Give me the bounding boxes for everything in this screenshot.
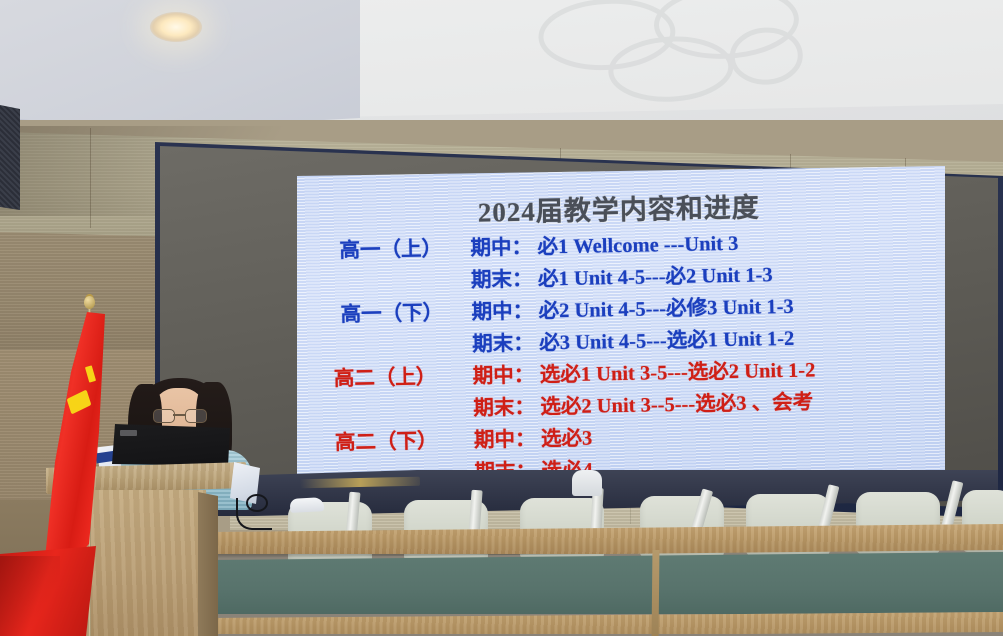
- glasses-icon: [153, 409, 205, 421]
- wall-speaker-grille: [0, 105, 20, 210]
- olympic-rings-icon: [527, 0, 933, 122]
- laptop: [112, 424, 230, 466]
- laptop-logo: [120, 430, 137, 436]
- desk-seam: [652, 550, 660, 636]
- slide-content: 2024届教学内容和进度 高一（上） 期中： 必1 Wellcome ---Un…: [297, 166, 945, 496]
- slide-row-grade: 高二（下）: [335, 423, 438, 455]
- cable-coil: [246, 494, 268, 512]
- conference-desk: [212, 524, 1003, 636]
- slide-row-term: 期末：: [473, 390, 535, 421]
- presentation-room-photo: 2024届教学内容和进度 高一（上） 期中： 必1 Wellcome ---Un…: [0, 0, 1003, 636]
- flag-shadow: [0, 556, 60, 636]
- desk-front-panel: [212, 552, 1003, 614]
- slide-row-grade: 高二（上）: [334, 359, 437, 391]
- glasses-lens-left: [153, 409, 175, 423]
- glasses-bridge: [173, 414, 185, 416]
- desk-object: [572, 470, 602, 496]
- flag-finial-icon: [84, 296, 95, 309]
- slide-row-term: 期中：: [470, 230, 532, 261]
- slide-row-term: 期中：: [471, 294, 533, 325]
- glasses-lens-right: [185, 409, 207, 423]
- slide-row-content: 必1 Unit 4-5---必2 Unit 1-3: [538, 257, 773, 291]
- slide-row-term: 期中：: [472, 358, 534, 389]
- slide-title: 2024届教学内容和进度: [297, 182, 943, 233]
- desk-lower-rail: [212, 612, 1003, 634]
- slide-row-content: 必2 Unit 4-5---必修3 Unit 1-3: [538, 289, 794, 324]
- desk-top-surface: [212, 524, 1003, 554]
- slide-row-term: 期末：: [471, 262, 533, 293]
- desk-object: [290, 497, 325, 513]
- podium-body: [74, 490, 214, 636]
- slide-row-content: 选必1 Unit 3-5---选必2 Unit 1-2: [539, 352, 815, 387]
- slide-row-term: 期中：: [474, 422, 536, 453]
- panel-seam: [90, 128, 91, 228]
- slide-row-content: 必1 Wellcome ---Unit 3: [537, 226, 738, 260]
- slide-row-content: 选必2 Unit 3--5---选必3 、会考: [540, 384, 813, 419]
- presentation-slide[interactable]: 2024届教学内容和进度 高一（上） 期中： 必1 Wellcome ---Un…: [297, 166, 945, 496]
- slide-row-term: 期末：: [472, 326, 534, 357]
- slide-row-content: 必3 Unit 4-5---选必1 Unit 1-2: [539, 321, 795, 356]
- slide-row-grade: 高一（上）: [339, 231, 442, 263]
- podium-side: [198, 492, 218, 636]
- slide-row-content: 选必3: [541, 421, 593, 452]
- slide-row-grade: 高一（下）: [340, 295, 443, 327]
- ceiling-downlight-icon: [150, 12, 202, 42]
